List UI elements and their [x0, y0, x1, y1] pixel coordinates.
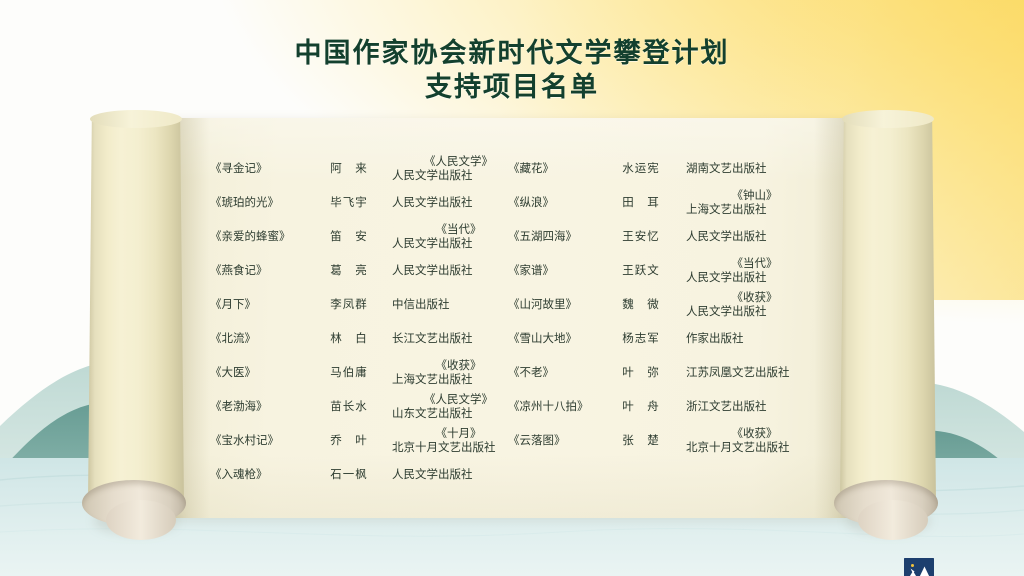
publisher-journal: 《当代》	[686, 257, 823, 271]
page-title: 中国作家协会新时代文学攀登计划 支持项目名单	[0, 36, 1024, 104]
publisher-journal: 《当代》	[392, 223, 525, 237]
table-row: 《纵浪》田 耳《钟山》上海文艺出版社	[508, 186, 823, 220]
publisher-journal: 《钟山》	[686, 189, 823, 203]
work-title: 《大医》	[210, 366, 318, 380]
work-author: 阿 来	[318, 162, 380, 176]
publisher-house: 浙江文艺出版社	[686, 400, 767, 414]
work-publisher: 浙江文艺出版社	[674, 400, 823, 414]
work-author: 笛 安	[318, 230, 380, 244]
work-author: 王跃文	[608, 264, 674, 278]
title-line-1: 中国作家协会新时代文学攀登计划	[0, 36, 1024, 70]
work-author: 叶 弥	[608, 366, 674, 380]
work-title: 《琥珀的光》	[210, 196, 318, 210]
work-title: 《云落图》	[508, 434, 608, 448]
work-title: 《家谱》	[508, 264, 608, 278]
work-title: 《五湖四海》	[508, 230, 608, 244]
work-title: 《宝水村记》	[210, 434, 318, 448]
work-publisher: 《十月》北京十月文艺出版社	[380, 427, 525, 455]
work-author: 田 耳	[608, 196, 674, 210]
work-publisher: 《收获》人民文学出版社	[674, 291, 823, 319]
publisher-house: 人民文学出版社	[392, 264, 473, 278]
work-author: 水运宪	[608, 162, 674, 176]
work-author: 马伯庸	[318, 366, 380, 380]
work-title: 《纵浪》	[508, 196, 608, 210]
publisher-journal: 《收获》	[392, 359, 525, 373]
work-title: 《入魂枪》	[210, 468, 318, 482]
publisher-house: 人民文学出版社	[686, 305, 823, 319]
publisher-house: 人民文学出版社	[392, 468, 473, 482]
work-publisher: 中信出版社	[380, 298, 525, 312]
work-title: 《寻金记》	[210, 162, 318, 176]
work-publisher: 《当代》人民文学出版社	[674, 257, 823, 285]
publisher-house: 山东文艺出版社	[392, 407, 525, 421]
publisher-journal: 《人民文学》	[392, 393, 525, 407]
table-row: 《月下》李凤群中信出版社	[210, 288, 525, 322]
work-author: 毕飞宇	[318, 196, 380, 210]
table-row: 《老渤海》苗长水《人民文学》山东文艺出版社	[210, 390, 525, 424]
work-author: 李凤群	[318, 298, 380, 312]
work-author: 张 楚	[608, 434, 674, 448]
table-row: 《北流》林 白长江文艺出版社	[210, 322, 525, 356]
publisher-house: 上海文艺出版社	[686, 203, 823, 217]
publisher-house: 人民文学出版社	[392, 237, 525, 251]
publisher-house: 湖南文艺出版社	[686, 162, 767, 176]
work-title: 《不老》	[508, 366, 608, 380]
work-title: 《燕食记》	[210, 264, 318, 278]
table-row: 《家谱》王跃文《当代》人民文学出版社	[508, 254, 823, 288]
project-list-column-left: 《寻金记》阿 来《人民文学》人民文学出版社《琥珀的光》毕飞宇人民文学出版社《亲爱…	[210, 152, 525, 492]
work-author: 石一枫	[318, 468, 380, 482]
work-author: 乔 叶	[318, 434, 380, 448]
work-author: 林 白	[318, 332, 380, 346]
table-row: 《山河故里》魏 微《收获》人民文学出版社	[508, 288, 823, 322]
work-author: 王安忆	[608, 230, 674, 244]
work-author: 苗长水	[318, 400, 380, 414]
publisher-house: 江苏凤凰文艺出版社	[686, 366, 790, 380]
publisher-house: 北京十月文艺出版社	[392, 441, 525, 455]
work-title: 《凉州十八拍》	[508, 400, 608, 414]
publisher-house: 上海文艺出版社	[392, 373, 525, 387]
work-publisher: 湖南文艺出版社	[674, 162, 823, 176]
table-row: 《宝水村记》乔 叶《十月》北京十月文艺出版社	[210, 424, 525, 458]
publisher-house: 人民文学出版社	[686, 271, 823, 285]
work-author: 葛 亮	[318, 264, 380, 278]
work-title: 《藏花》	[508, 162, 608, 176]
table-row: 《云落图》张 楚《收获》北京十月文艺出版社	[508, 424, 823, 458]
work-publisher: 《收获》上海文艺出版社	[380, 359, 525, 387]
work-title: 《老渤海》	[210, 400, 318, 414]
table-row: 《亲爱的蜂蜜》笛 安《当代》人民文学出版社	[210, 220, 525, 254]
publisher-house: 人民文学出版社	[392, 169, 525, 183]
publisher-journal: 《收获》	[686, 291, 823, 305]
work-publisher: 江苏凤凰文艺出版社	[674, 366, 823, 380]
table-row: 《不老》叶 弥江苏凤凰文艺出版社	[508, 356, 823, 390]
work-publisher: 《人民文学》山东文艺出版社	[380, 393, 525, 421]
publisher-house: 长江文艺出版社	[392, 332, 473, 346]
table-row: 《五湖四海》王安忆人民文学出版社	[508, 220, 823, 254]
work-publisher: 《当代》人民文学出版社	[380, 223, 525, 251]
work-publisher: 作家出版社	[674, 332, 823, 346]
work-title: 《雪山大地》	[508, 332, 608, 346]
work-publisher: 《人民文学》人民文学出版社	[380, 155, 525, 183]
mountain-peak-logo-icon	[904, 558, 934, 576]
work-publisher: 人民文学出版社	[674, 230, 823, 244]
work-publisher: 人民文学出版社	[380, 196, 525, 210]
publisher-house: 作家出版社	[686, 332, 744, 346]
table-row: 《大医》马伯庸《收获》上海文艺出版社	[210, 356, 525, 390]
work-title: 《月下》	[210, 298, 318, 312]
logo-mountain-svg	[904, 558, 934, 576]
publisher-house: 人民文学出版社	[686, 230, 767, 244]
table-row: 《琥珀的光》毕飞宇人民文学出版社	[210, 186, 525, 220]
publisher-house: 北京十月文艺出版社	[686, 441, 823, 455]
table-row: 《藏花》水运宪湖南文艺出版社	[508, 152, 823, 186]
table-row: 《入魂枪》石一枫人民文学出版社	[210, 458, 525, 492]
table-row: 《燕食记》葛 亮人民文学出版社	[210, 254, 525, 288]
work-title: 《亲爱的蜂蜜》	[210, 230, 318, 244]
title-line-2: 支持项目名单	[0, 70, 1024, 104]
project-list-column-right: 《藏花》水运宪湖南文艺出版社《纵浪》田 耳《钟山》上海文艺出版社《五湖四海》王安…	[508, 152, 823, 458]
project-list: 《寻金记》阿 来《人民文学》人民文学出版社《琥珀的光》毕飞宇人民文学出版社《亲爱…	[88, 110, 936, 528]
work-publisher: 《收获》北京十月文艺出版社	[674, 427, 823, 455]
work-title: 《北流》	[210, 332, 318, 346]
work-title: 《山河故里》	[508, 298, 608, 312]
work-publisher: 长江文艺出版社	[380, 332, 525, 346]
work-author: 叶 舟	[608, 400, 674, 414]
table-row: 《凉州十八拍》叶 舟浙江文艺出版社	[508, 390, 823, 424]
scroll-graphic: 《寻金记》阿 来《人民文学》人民文学出版社《琥珀的光》毕飞宇人民文学出版社《亲爱…	[88, 110, 936, 528]
publisher-journal: 《收获》	[686, 427, 823, 441]
publisher-house: 人民文学出版社	[392, 196, 473, 210]
program-logo: 新时代文学攀登计划 LITERATURE SUMMIT PLAN FOR A N…	[871, 558, 967, 576]
poster-stage: 中国作家协会新时代文学攀登计划 支持项目名单 《寻金记》阿 来《人民文学》人民文…	[0, 0, 1024, 576]
publisher-journal: 《十月》	[392, 427, 525, 441]
work-publisher: 《钟山》上海文艺出版社	[674, 189, 823, 217]
publisher-journal: 《人民文学》	[392, 155, 525, 169]
work-publisher: 人民文学出版社	[380, 468, 525, 482]
table-row: 《雪山大地》杨志军作家出版社	[508, 322, 823, 356]
work-author: 杨志军	[608, 332, 674, 346]
work-publisher: 人民文学出版社	[380, 264, 525, 278]
publisher-house: 中信出版社	[392, 298, 450, 312]
work-author: 魏 微	[608, 298, 674, 312]
table-row: 《寻金记》阿 来《人民文学》人民文学出版社	[210, 152, 525, 186]
